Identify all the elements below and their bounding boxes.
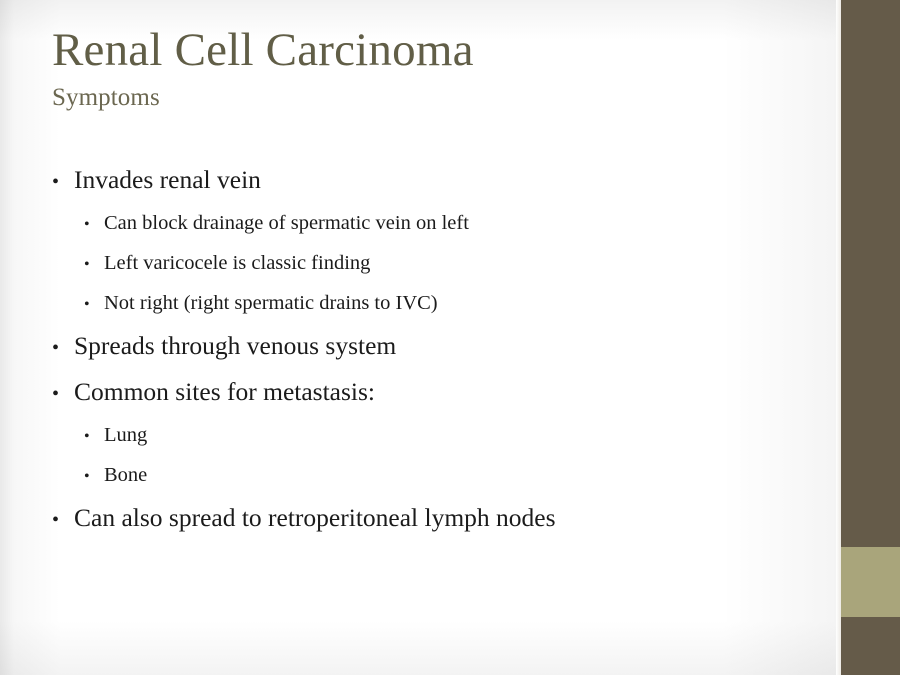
bullet-text: Lung [104,416,820,454]
title-block: Renal Cell Carcinoma Symptoms [52,26,812,113]
bullet-text: Not right (right spermatic drains to IVC… [104,284,820,322]
bullet-text: Can block drainage of spermatic vein on … [104,204,820,242]
bullet-point-icon: • [84,418,104,456]
sidebar-decoration [841,0,900,675]
bullet-text: Common sites for metastasis: [74,370,820,414]
bullet-item: •Can also spread to retroperitoneal lymp… [50,496,820,542]
bullet-text: Can also spread to retroperitoneal lymph… [74,496,820,540]
bullet-text: Spreads through venous system [74,324,820,368]
slide-title: Renal Cell Carcinoma [52,26,812,75]
slide-subtitle: Symptoms [52,84,812,113]
bullet-point-icon: • [52,326,74,370]
bullet-item: •Spreads through venous system [50,324,820,370]
bullet-point-icon: • [84,286,104,324]
bullet-text: Invades renal vein [74,158,820,202]
bullet-point-icon: • [84,246,104,284]
bullet-point-icon: • [52,372,74,416]
bullet-item: •Bone [50,456,820,496]
slide: Renal Cell Carcinoma Symptoms •Invades r… [0,0,900,675]
bullet-text: Bone [104,456,820,494]
bullet-item: •Common sites for metastasis: [50,370,820,416]
bullet-item: •Invades renal vein [50,158,820,204]
bullet-text: Left varicocele is classic finding [104,244,820,282]
bullet-item: •Can block drainage of spermatic vein on… [50,204,820,244]
bullet-point-icon: • [84,458,104,496]
bullet-point-icon: • [84,206,104,244]
slide-body: •Invades renal vein•Can block drainage o… [50,158,820,542]
bullet-item: •Left varicocele is classic finding [50,244,820,284]
bullet-point-icon: • [52,160,74,204]
bullet-item: •Lung [50,416,820,456]
sidebar-accent-band [841,547,900,617]
bullet-item: •Not right (right spermatic drains to IV… [50,284,820,324]
bullet-point-icon: • [52,498,74,542]
